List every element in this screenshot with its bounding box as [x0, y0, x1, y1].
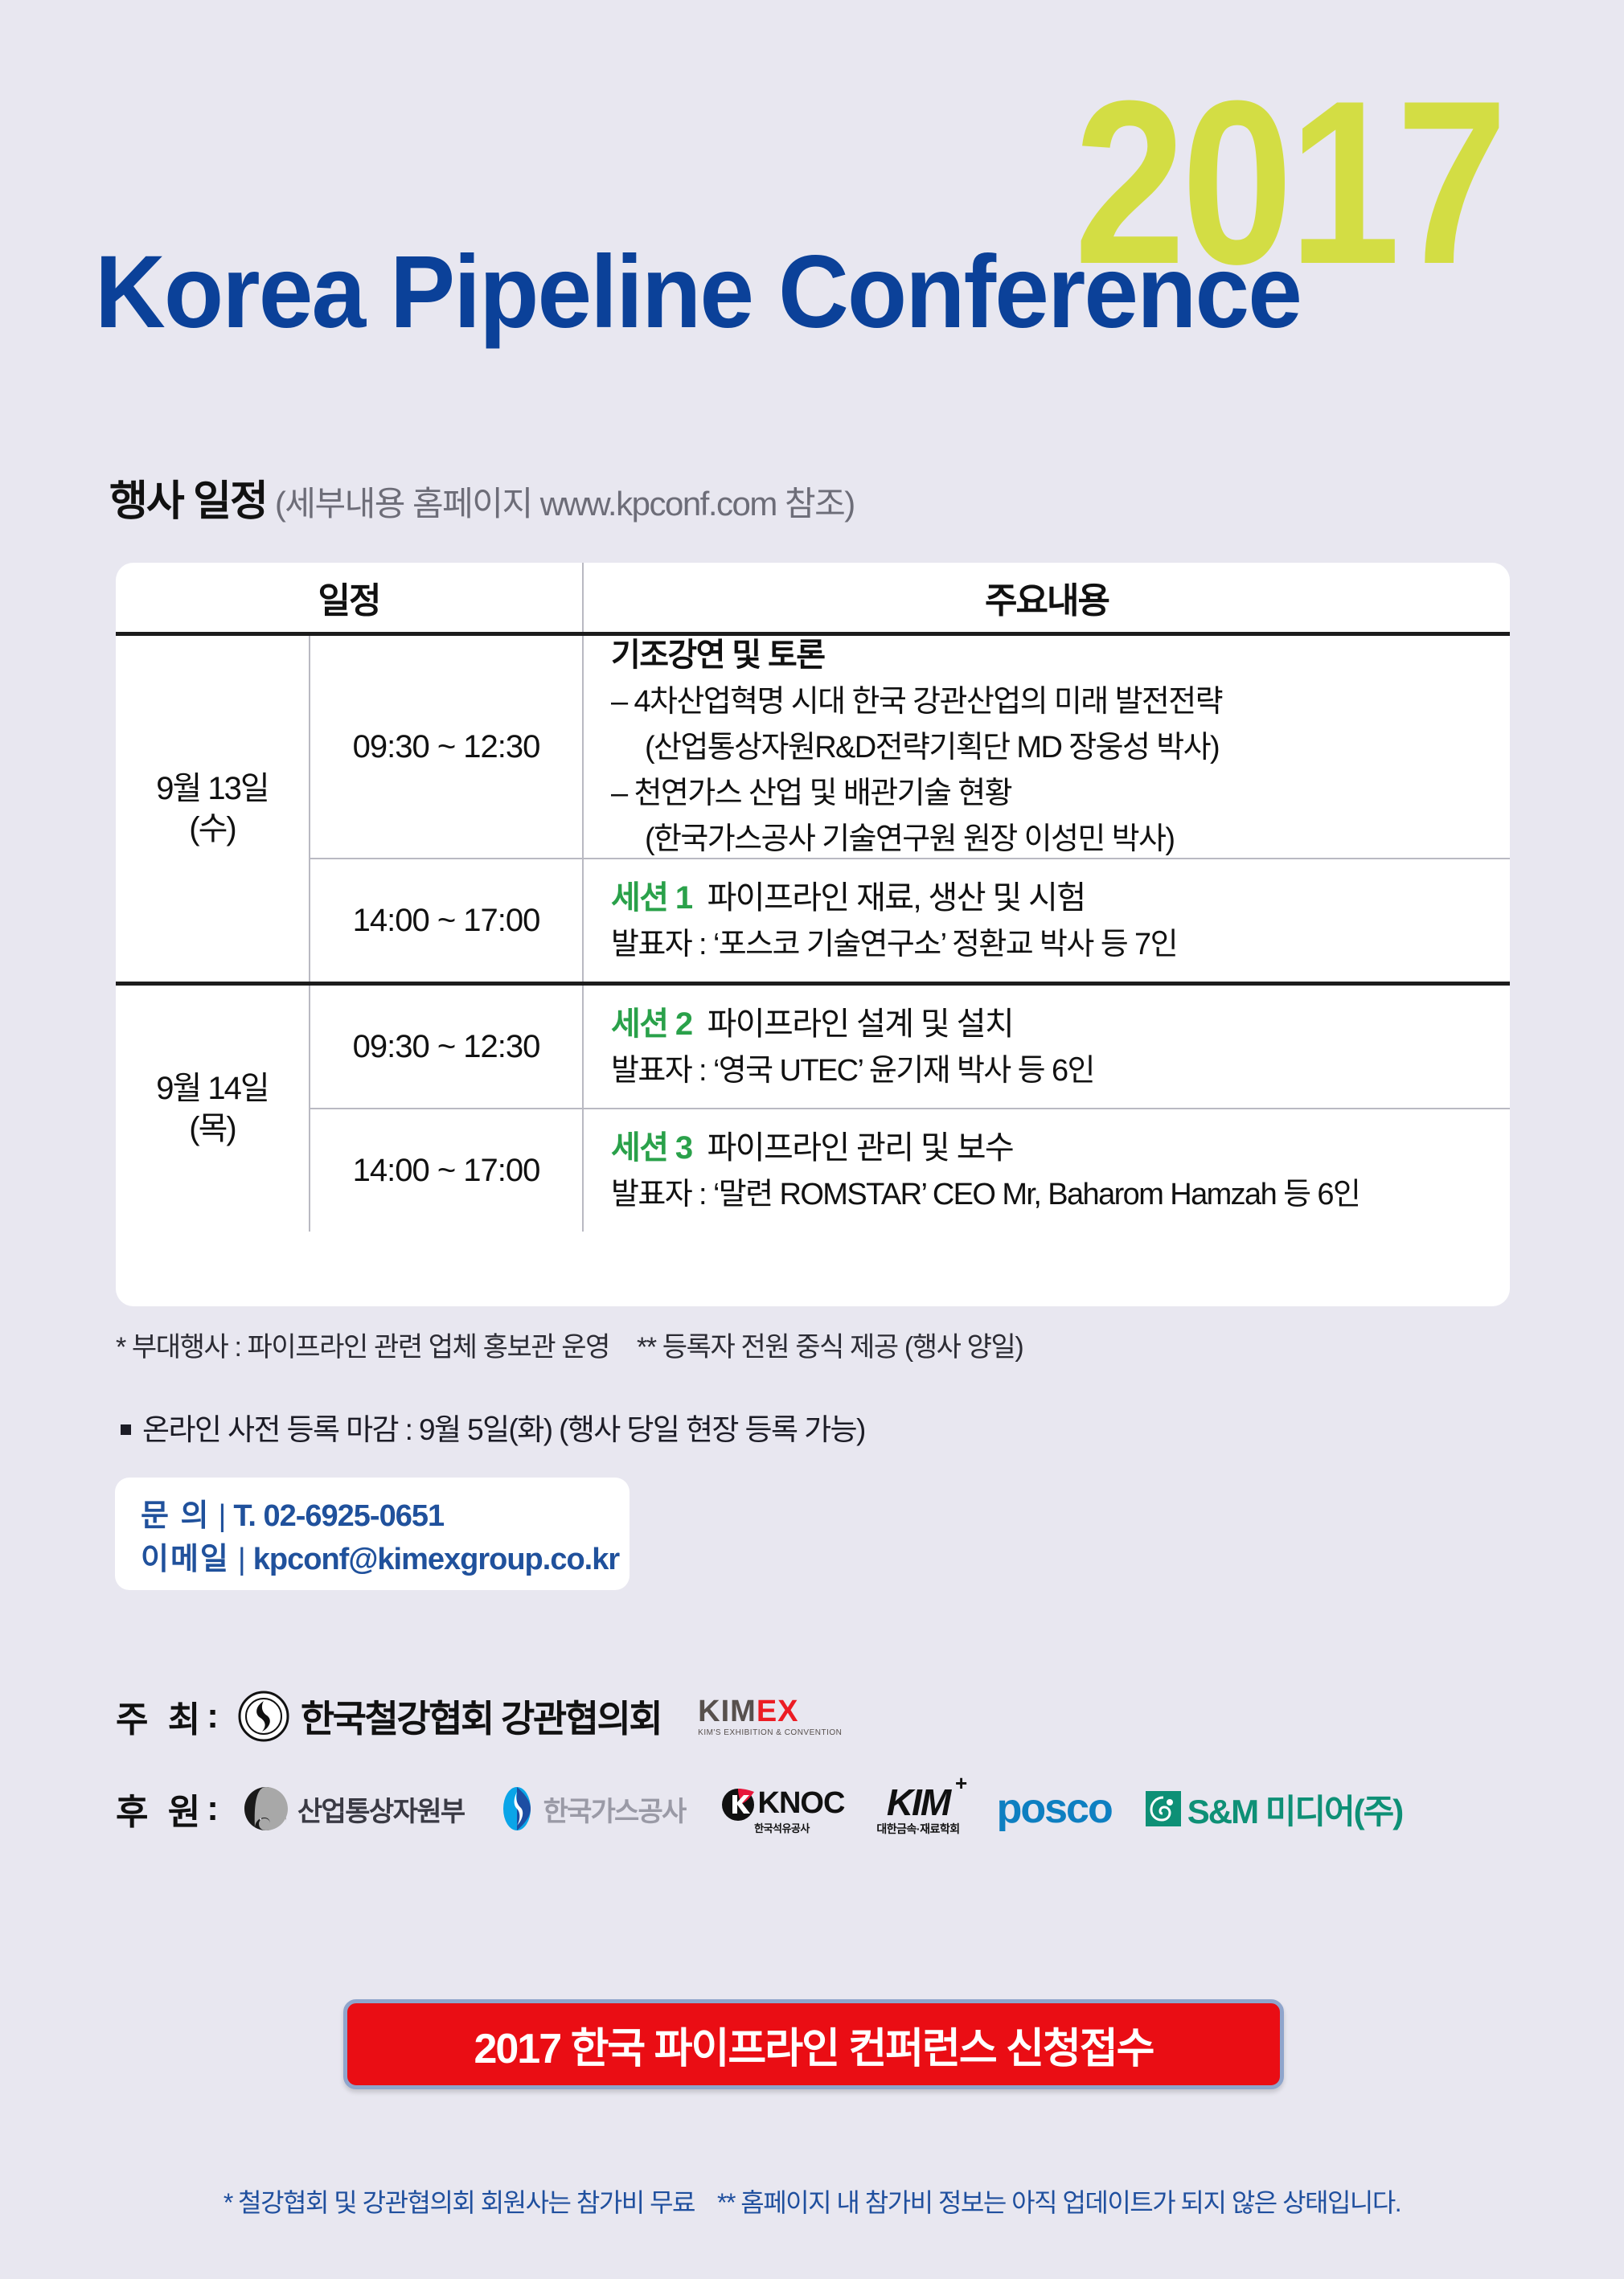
sponsor-name-motie: 산업통상자원부	[297, 1789, 465, 1829]
footnote: * 철강협회 및 강관협의회 회원사는 참가비 무료** 홈페이지 내 참가비 …	[0, 2183, 1624, 2220]
knoc-logo-icon: KNOC 한국석유공사	[720, 1785, 845, 1834]
note-side-event: * 부대행사 : 파이프라인 관련 업체 홍보관 운영	[116, 1332, 609, 1363]
session-title-row: 세션 2 파이프라인 설계 및 설치	[611, 1000, 1510, 1048]
sponsors-colon: :	[207, 1789, 219, 1829]
snm-media-icon	[1146, 1791, 1181, 1826]
table-row: 09:30 ~ 12:30 기조강연 및 토론 – 4차산업혁명 시대 한국 강…	[310, 636, 1510, 858]
footnote-part2: ** 홈페이지 내 참가비 정보는 아직 업데이트가 되지 않은 상태입니다.	[717, 2188, 1400, 2217]
day-date-line-2b: (목)	[189, 1109, 235, 1149]
page-title: Korea Pipeline Conference	[95, 241, 1301, 344]
contact-email-line: 이메일|kpconf@kimexgroup.co.kr	[141, 1539, 630, 1582]
contact-email-value[interactable]: kpconf@kimexgroup.co.kr	[253, 1543, 619, 1576]
schedule-heading-sub: (세부내용 홈페이지 www.kpconf.com 참조)	[275, 485, 855, 523]
column-header-schedule: 일정	[116, 563, 582, 632]
kosa-emblem-icon	[238, 1691, 289, 1742]
kimex-wordmark: KIMEX	[698, 1696, 842, 1727]
kim-logo-icon: KIM+ 대한금속·재료학회	[876, 1784, 959, 1834]
day-sessions-column-1: 09:30 ~ 12:30 기조강연 및 토론 – 4차산업혁명 시대 한국 강…	[310, 636, 1510, 982]
day-date-column-2: 9월 14일 (목)	[116, 986, 309, 1232]
schedule-heading: 행사 일정(세부내용 홈페이지 www.kpconf.com 참조)	[109, 481, 855, 523]
session-label: 세션 2	[611, 1006, 692, 1042]
day-group-1: 9월 13일 (수) 09:30 ~ 12:30 기조강연 및 토론 – 4차산…	[116, 636, 1510, 982]
knoc-k-icon	[720, 1785, 757, 1822]
session-content: 세션 2 파이프라인 설계 및 설치 발표자 : ‘영국 UTEC’ 윤기재 박…	[584, 986, 1510, 1108]
organizers-row: 주 최 : 한국철강협회 강관협의회 KIMEX KIM'S EXHIBITIO…	[116, 1680, 842, 1752]
keynote-line-1: – 4차산업혁명 시대 한국 강관산업의 미래 발전전략	[611, 679, 1510, 725]
sponsors-role-label: 후 원	[116, 1783, 205, 1834]
contact-phone-label: 문 의	[141, 1499, 210, 1533]
organizers-role-label: 주 최	[116, 1691, 205, 1742]
contact-phone-value: T. 02-6925-0651	[233, 1499, 444, 1533]
contact-divider: |	[238, 1543, 245, 1576]
footnote-part1: * 철강협회 및 강관협의회 회원사는 참가비 무료	[224, 2188, 695, 2217]
kimex-part1: KIM	[698, 1695, 757, 1728]
schedule-heading-main: 행사 일정	[109, 478, 267, 525]
contact-email-label: 이메일	[141, 1543, 230, 1576]
table-header-row: 일정 주요내용	[116, 563, 1510, 632]
table-row: 14:00 ~ 17:00 세션 3 파이프라인 관리 및 보수 발표자 : ‘…	[310, 1109, 1510, 1232]
kim-name: KIM	[887, 1781, 949, 1823]
column-header-content: 주요내용	[584, 563, 1510, 632]
knoc-subtitle: 한국석유공사	[754, 1823, 810, 1834]
registration-cta-button[interactable]: 2017 한국 파이프라인 컨퍼런스 신청접수	[343, 1999, 1284, 2089]
session-label: 세션 1	[611, 880, 692, 916]
session-topic: 파이프라인 설계 및 설치	[707, 1006, 1014, 1042]
day-date-cell-2: 9월 14일 (목)	[116, 986, 309, 1232]
keynote-line-3: – 천연가스 산업 및 배관기술 현황	[611, 771, 1510, 817]
kogas-flame-icon	[500, 1785, 534, 1832]
snm-media-logo: S&M 미디어(주)	[1146, 1785, 1403, 1834]
knoc-name: KNOC	[758, 1788, 845, 1818]
contact-divider: |	[218, 1499, 225, 1533]
kim-wordmark: KIM+	[887, 1784, 949, 1821]
keynote-line-4: (한국가스공사 기술연구원 원장 이성민 박사)	[611, 817, 1510, 863]
knoc-wordmark: KNOC	[720, 1785, 845, 1822]
day-group-2: 9월 14일 (목) 09:30 ~ 12:30 세션 2 파이프라인 설계 및…	[116, 986, 1510, 1232]
session-time: 14:00 ~ 17:00	[310, 1109, 582, 1232]
session-topic: 파이프라인 관리 및 보수	[707, 1130, 1014, 1166]
korea-government-taegeuk-icon	[243, 1785, 289, 1832]
day-date-line-2a: 9월 14일	[156, 1068, 268, 1109]
session-time: 14:00 ~ 17:00	[310, 859, 582, 982]
session-label: 세션 3	[611, 1130, 692, 1166]
table-row: 14:00 ~ 17:00 세션 1 파이프라인 재료, 생산 및 시험 발표자…	[310, 859, 1510, 982]
schedule-table: 일정 주요내용 9월 13일 (수) 09:30 ~ 12:30 기조강연	[116, 563, 1510, 1306]
table-row: 09:30 ~ 12:30 세션 2 파이프라인 설계 및 설치 발표자 : ‘…	[310, 986, 1510, 1108]
session-presenter: 발표자 : ‘영국 UTEC’ 윤기재 박사 등 6인	[611, 1048, 1510, 1094]
session-content: 세션 3 파이프라인 관리 및 보수 발표자 : ‘말련 ROMSTAR’ CE…	[584, 1109, 1510, 1232]
day-date-line-1a: 9월 13일	[156, 769, 268, 809]
registration-cta-label: 2017 한국 파이프라인 컨퍼런스 신청접수	[474, 2015, 1153, 2075]
table-notes: * 부대행사 : 파이프라인 관련 업체 홍보관 운영** 등록자 전원 중식 …	[116, 1325, 1023, 1364]
kim-plus: +	[955, 1773, 966, 1793]
kim-subtitle: 대한금속·재료학회	[876, 1823, 959, 1834]
contact-phone-line: 문 의|T. 02-6925-0651	[141, 1495, 630, 1539]
day-date-line-1b: (수)	[189, 809, 235, 849]
kimex-part2: EX	[757, 1695, 799, 1728]
session-presenter: 발표자 : ‘포스코 기술연구소’ 정환교 박사 등 7인	[611, 922, 1510, 968]
keynote-line-2: (산업통상자원R&D전략기획단 MD 장웅성 박사)	[611, 725, 1510, 771]
kimex-subtitle: KIM'S EXHIBITION & CONVENTION	[698, 1729, 842, 1737]
session-title-row: 세션 1 파이프라인 재료, 생산 및 시험	[611, 874, 1510, 922]
day-date-column-1: 9월 13일 (수)	[116, 636, 309, 982]
organizers-colon: :	[207, 1696, 219, 1736]
day-sessions-column-2: 09:30 ~ 12:30 세션 2 파이프라인 설계 및 설치 발표자 : ‘…	[310, 986, 1510, 1232]
kosa-name: 한국철강협회 강관협의회	[301, 1690, 661, 1743]
registration-deadline: 온라인 사전 등록 마감 : 9월 5일(화) (행사 당일 현장 등록 가능)	[121, 1405, 865, 1449]
keynote-heading: 기조강연 및 토론	[611, 631, 1510, 679]
sponsor-name-kogas: 한국가스공사	[543, 1789, 686, 1829]
day-date-cell-1: 9월 13일 (수)	[116, 636, 309, 982]
session-title-row: 세션 3 파이프라인 관리 및 보수	[611, 1124, 1510, 1172]
poster-root: 2017 Korea Pipeline Conference 행사 일정(세부내…	[0, 0, 1624, 2279]
session-time: 09:30 ~ 12:30	[310, 986, 582, 1108]
posco-wordmark-icon: posco	[997, 1788, 1112, 1830]
session-time: 09:30 ~ 12:30	[310, 636, 582, 858]
kimex-logo-icon: KIMEX KIM'S EXHIBITION & CONVENTION	[698, 1696, 842, 1737]
session-content: 기조강연 및 토론 – 4차산업혁명 시대 한국 강관산업의 미래 발전전략 (…	[584, 636, 1510, 858]
square-bullet-icon	[121, 1424, 131, 1435]
session-presenter: 발표자 : ‘말련 ROMSTAR’ CEO Mr, Baharom Hamza…	[611, 1172, 1510, 1218]
note-lunch: ** 등록자 전원 중식 제공 (행사 양일)	[637, 1332, 1023, 1363]
registration-deadline-text: 온라인 사전 등록 마감 : 9월 5일(화) (행사 당일 현장 등록 가능)	[142, 1413, 865, 1446]
masthead: 2017 Korea Pipeline Conference	[0, 0, 1624, 418]
snm-media-name: S&M 미디어(주)	[1187, 1785, 1403, 1834]
sponsors-row: 후 원 : 산업통상자원부 한국가스공사 KNOC 한국석유공	[116, 1769, 1402, 1849]
session-topic: 파이프라인 재료, 생산 및 시험	[707, 880, 1085, 916]
session-content: 세션 1 파이프라인 재료, 생산 및 시험 발표자 : ‘포스코 기술연구소’…	[584, 859, 1510, 982]
contact-box: 문 의|T. 02-6925-0651 이메일|kpconf@kimexgrou…	[115, 1478, 630, 1590]
